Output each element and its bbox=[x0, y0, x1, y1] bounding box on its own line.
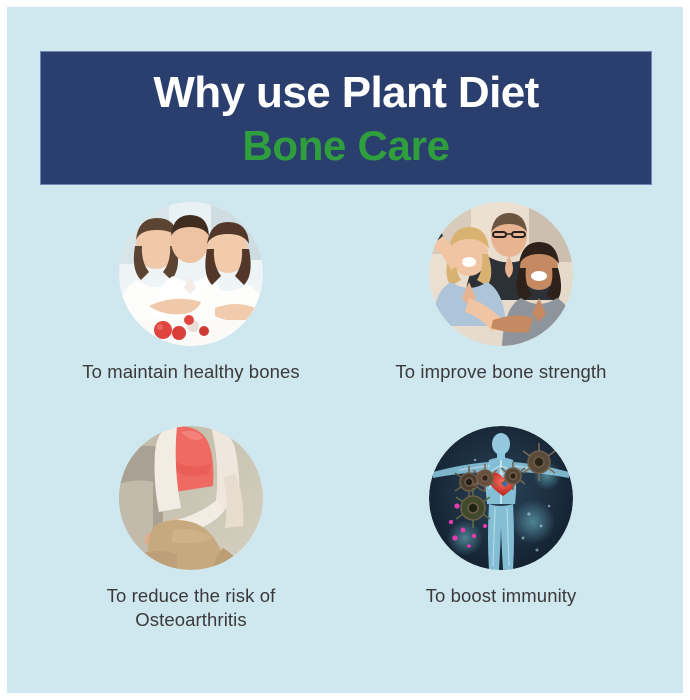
benefit-card-improve-bone-strength: To improve bone strength bbox=[356, 202, 646, 384]
benefit-card-reduce-osteoarthritis-risk: To reduce the risk of Osteoarthritis bbox=[46, 426, 336, 631]
header-banner: Why use Plant Diet Bone Care bbox=[40, 51, 652, 185]
poster-canvas: Why use Plant Diet Bone Care bbox=[7, 7, 683, 693]
family-women-photo bbox=[119, 202, 263, 346]
benefit-caption: To improve bone strength bbox=[371, 360, 631, 384]
knee-pain-photo bbox=[119, 426, 263, 570]
benefit-card-boost-immunity: To boost immunity bbox=[356, 426, 646, 608]
benefit-caption: To boost immunity bbox=[371, 584, 631, 608]
banner-title-primary: Why use Plant Diet bbox=[153, 71, 538, 115]
benefit-caption: To maintain healthy bones bbox=[61, 360, 321, 384]
benefits-grid: To maintain healthy bones bbox=[40, 200, 652, 660]
banner-title-secondary: Bone Care bbox=[242, 125, 449, 167]
fitness-group-photo bbox=[429, 202, 573, 346]
poster: Why use Plant Diet Bone Care bbox=[0, 0, 690, 700]
benefit-caption: To reduce the risk of Osteoarthritis bbox=[61, 584, 321, 631]
benefit-card-maintain-healthy-bones: To maintain healthy bones bbox=[46, 202, 336, 384]
immunity-body-illustration bbox=[429, 426, 573, 570]
